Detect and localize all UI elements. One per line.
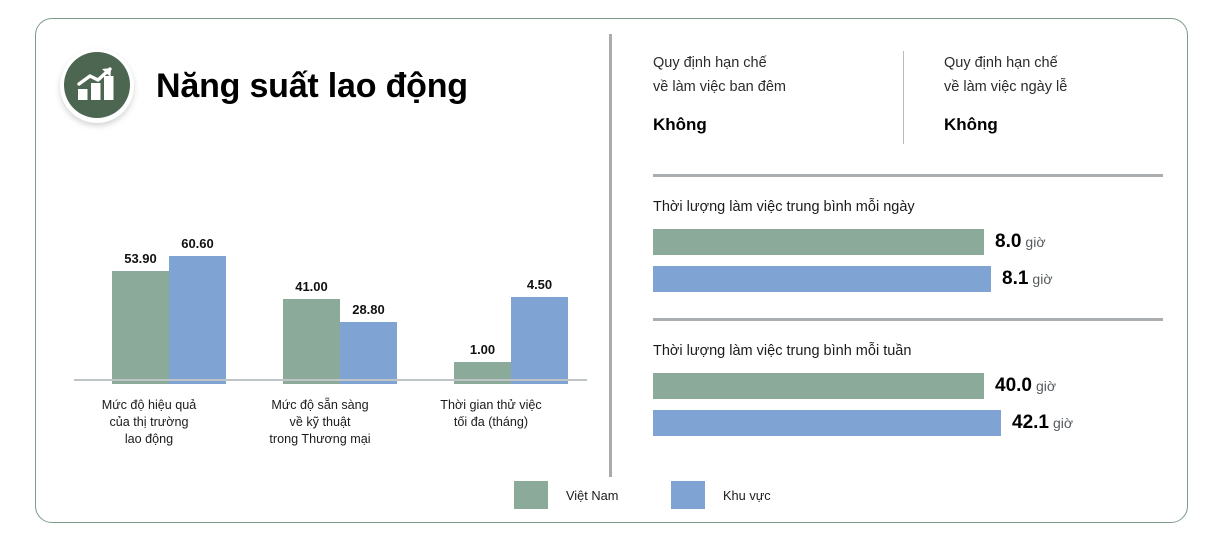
hbar-unit: giờ [1025,234,1045,250]
bar-column: 53.90 [112,214,169,384]
stat-block-night-work: Quy định hạn chế về làm việc ban đêm Khô… [653,51,908,135]
hbar-rect-vietnam [653,373,984,399]
hbar-rect-region [653,410,1001,436]
category-label-line: Mức độ hiệu quả [69,397,229,414]
hbar-row: 42.1giờ [653,410,1173,436]
stat-value: Không [653,115,908,135]
bar-rect-vietnam [112,271,169,384]
panel-divider [609,34,612,477]
category-label: Mức độ hiệu quả của thị trường lao động [69,397,229,448]
bar-rect-region [511,297,568,384]
hbar-value: 8.1 [1002,268,1028,289]
hbar-section-title: Thời lượng làm việc trung bình mỗi tuần [653,343,1173,359]
legend-item-vietnam: Việt Nam [514,481,618,509]
stat-value: Không [944,115,1163,135]
bar-value-label: 1.00 [470,342,495,357]
category-label: Thời gian thử việc tối đa (tháng) [411,397,571,431]
category-label-line: trong Thương mại [240,431,400,448]
bar-group: 53.90 60.60 [112,214,226,384]
hbar-section-weekly: Thời lượng làm việc trung bình mỗi tuần … [653,343,1173,447]
details-panel: Quy định hạn chế về làm việc ban đêm Khô… [619,19,1189,524]
bar-value-label: 28.80 [352,302,385,317]
column-chart-panel: 53.90 60.60 41.00 28.80 [36,19,609,524]
bar-column: 1.00 [454,214,511,384]
stat-caption: Quy định hạn chế về làm việc ngày lễ [944,51,1163,99]
hbar-value-wrap: 40.0giờ [995,375,1056,397]
section-rule [653,318,1163,321]
bar-value-label: 60.60 [181,236,214,251]
stat-caption: Quy định hạn chế về làm việc ban đêm [653,51,908,99]
category-labels: Mức độ hiệu quả của thị trường lao động … [74,387,591,457]
hbar-section-daily: Thời lượng làm việc trung bình mỗi ngày … [653,199,1173,303]
stat-caption-line: về làm việc ngày lễ [944,75,1163,99]
hbar-section-title: Thời lượng làm việc trung bình mỗi ngày [653,199,1173,215]
column-chart: 53.90 60.60 41.00 28.80 [74,214,591,384]
hbar-unit: giờ [1032,271,1052,287]
hbar-value-wrap: 8.1giờ [1002,268,1053,290]
bar-rect-region [340,322,397,384]
stat-caption-line: Quy định hạn chế [653,51,908,75]
bar-value-label: 41.00 [295,279,328,294]
section-rule [653,174,1163,177]
bar-rect-vietnam [283,299,340,384]
bar-value-label: 4.50 [527,277,552,292]
category-label-line: Mức độ sẵn sàng [240,397,400,414]
productivity-card: Năng suất lao động 53.90 60.60 41.00 [35,18,1188,523]
regulation-stats: Quy định hạn chế về làm việc ban đêm Khô… [653,51,1163,135]
hbar-unit: giờ [1036,378,1056,394]
hbar-value: 40.0 [995,375,1032,396]
hbar-value: 42.1 [1012,412,1049,433]
bar-column: 41.00 [283,214,340,384]
hbar-unit: giờ [1053,415,1073,431]
stat-block-holiday-work: Quy định hạn chế về làm việc ngày lễ Khô… [908,51,1163,135]
stat-caption-line: về làm việc ban đêm [653,75,908,99]
bar-value-label: 53.90 [124,251,157,266]
hbar-row: 8.1giờ [653,266,1173,292]
bar-column: 4.50 [511,214,568,384]
category-label-line: lao động [69,431,229,448]
category-label-line: của thị trường [69,414,229,431]
category-label-line: tối đa (tháng) [411,414,571,431]
hbar-value-wrap: 8.0giờ [995,231,1046,253]
stat-divider [903,51,904,144]
category-label: Mức độ sẵn sàng về kỹ thuật trong Thương… [240,397,400,448]
bar-group: 41.00 28.80 [283,214,397,384]
chart-axis-line [74,379,587,381]
hbar-value-wrap: 42.1giờ [1012,412,1073,434]
category-label-line: về kỹ thuật [240,414,400,431]
bar-rect-vietnam [454,362,511,384]
hbar-value: 8.0 [995,231,1021,252]
bar-column: 28.80 [340,214,397,384]
hbar-rect-vietnam [653,229,984,255]
category-label-line: Thời gian thử việc [411,397,571,414]
bar-group: 1.00 4.50 [454,214,568,384]
legend-swatch-vietnam [514,481,548,509]
bar-column: 60.60 [169,214,226,384]
stat-caption-line: Quy định hạn chế [944,51,1163,75]
hbar-row: 8.0giờ [653,229,1173,255]
bar-rect-region [169,256,226,384]
hbar-row: 40.0giờ [653,373,1173,399]
hbar-rect-region [653,266,991,292]
legend-label-vietnam: Việt Nam [566,488,618,503]
